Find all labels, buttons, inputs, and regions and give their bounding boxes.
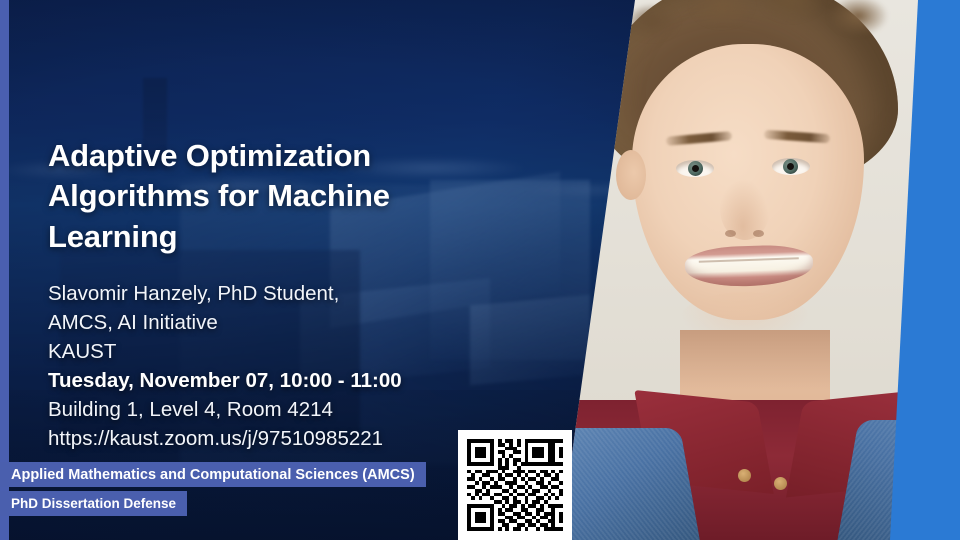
neck-shadow <box>680 330 830 390</box>
pupil-left <box>692 165 699 172</box>
event-type-banner-label: PhD Dissertation Defense <box>11 496 176 511</box>
seminar-poster: Adaptive Optimization Algorithms for Mac… <box>0 0 960 540</box>
nostril-left <box>725 230 736 237</box>
program-banner-label: Applied Mathematics and Computational Sc… <box>11 467 415 483</box>
nostril-right <box>753 230 764 237</box>
zoom-link[interactable]: https://kaust.zoom.us/j/97510985221 <box>48 424 478 453</box>
speaker-affiliation: AMCS, AI Initiative <box>48 308 478 337</box>
denim-jacket-left <box>560 428 700 540</box>
event-type-banner: PhD Dissertation Defense <box>0 491 187 516</box>
collar-button-1 <box>738 469 751 482</box>
event-datetime: Tuesday, November 07, 10:00 - 11:00 <box>48 366 478 395</box>
poster-text-block: Adaptive Optimization Algorithms for Mac… <box>48 136 478 454</box>
teeth-line <box>699 257 799 262</box>
qr-code[interactable] <box>467 439 563 531</box>
talk-details: Slavomir Hanzely, PhD Student, AMCS, AI … <box>48 279 478 454</box>
ear <box>616 150 646 200</box>
speaker-name: Slavomir Hanzely, PhD Student, <box>48 279 478 308</box>
pupil-right <box>787 163 794 170</box>
collar-button-2 <box>774 477 787 490</box>
event-location: Building 1, Level 4, Room 4214 <box>48 395 478 424</box>
eye-right <box>772 158 810 175</box>
page-title: Adaptive Optimization Algorithms for Mac… <box>48 136 478 257</box>
program-banner: Applied Mathematics and Computational Sc… <box>0 462 426 487</box>
speaker-institution: KAUST <box>48 337 478 366</box>
left-accent-stripe <box>0 0 9 540</box>
eye-left <box>676 160 714 177</box>
nose <box>720 178 770 240</box>
qr-code-card[interactable] <box>458 430 572 540</box>
